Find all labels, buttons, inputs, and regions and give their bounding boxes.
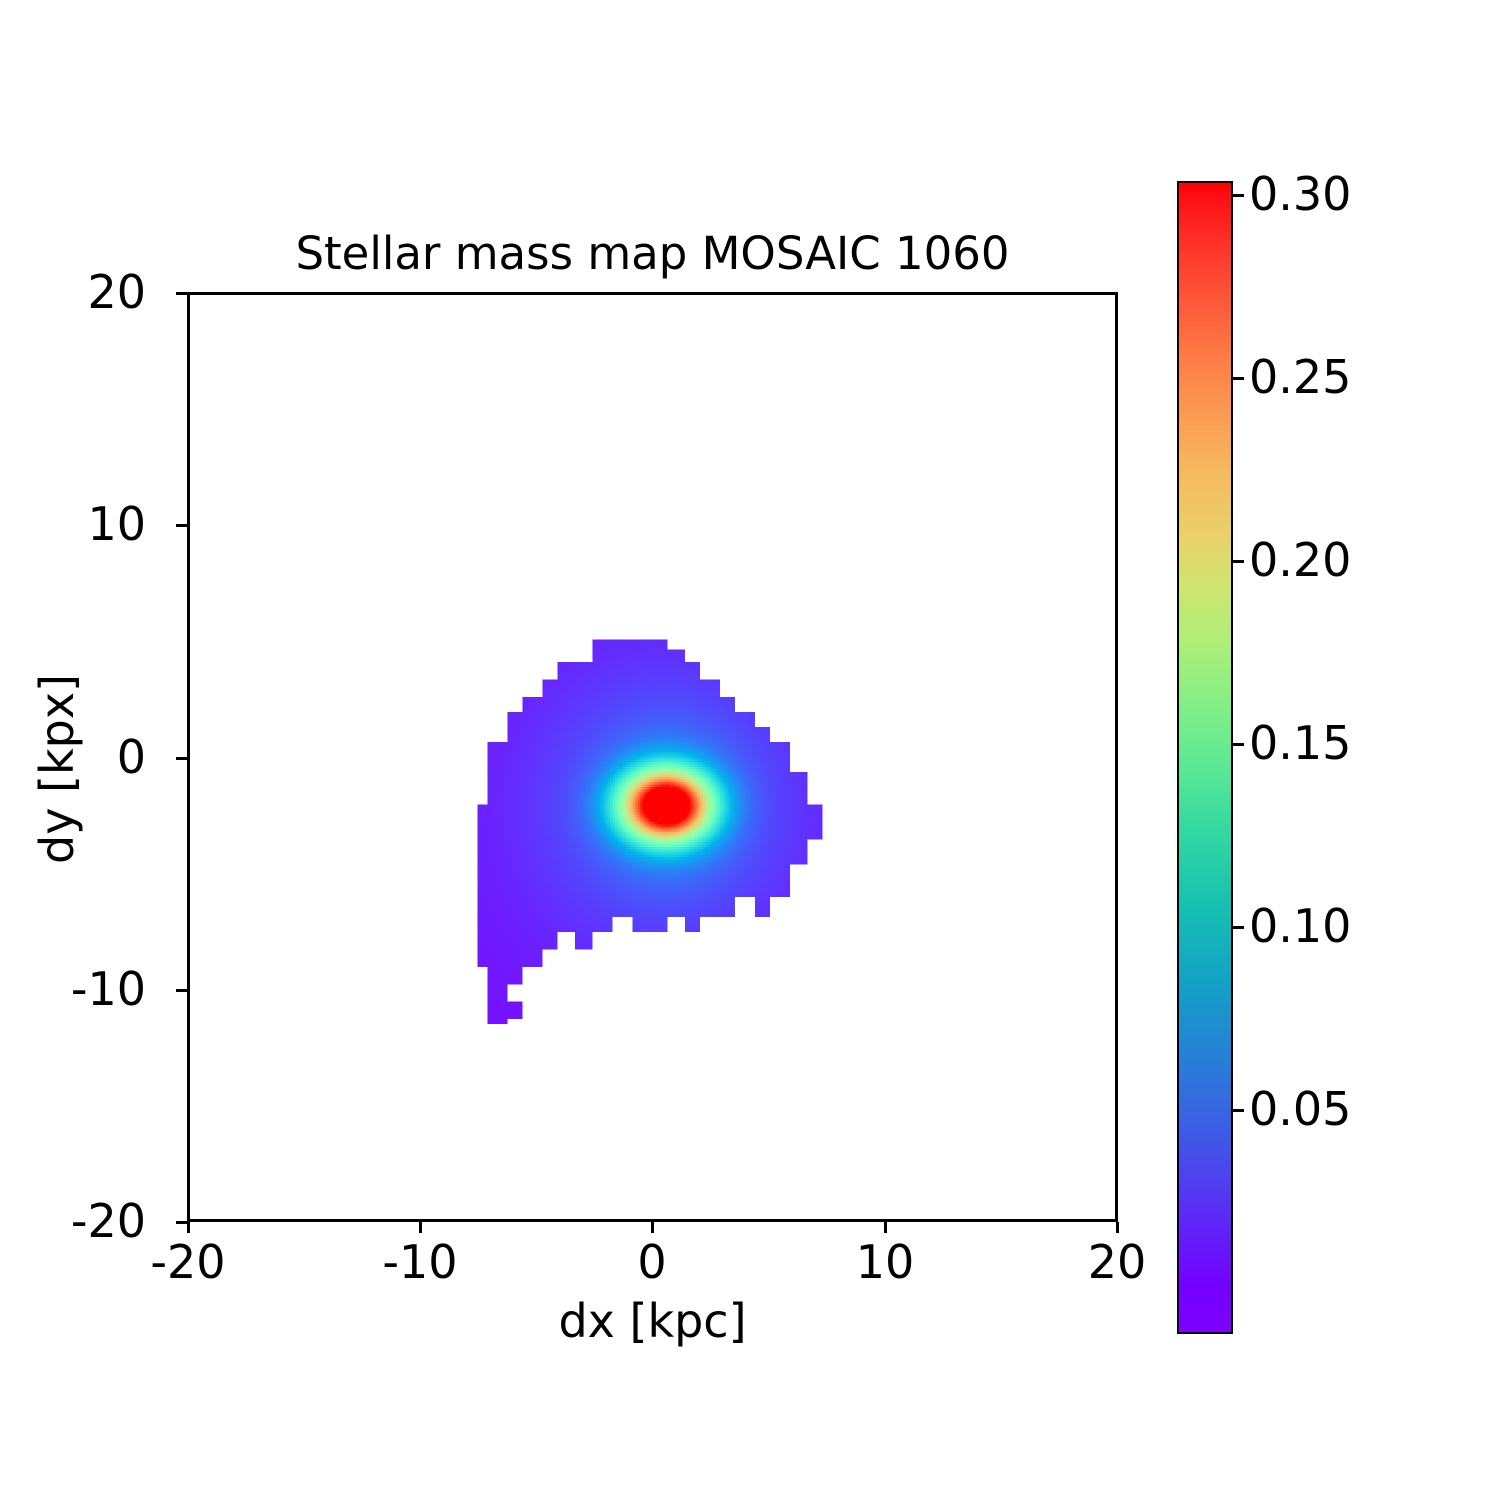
xtick-mark-0 <box>187 1222 190 1233</box>
colorbar-tick-label-3: 0.15 <box>1249 715 1351 771</box>
xtick-label-3: 10 <box>785 1234 985 1290</box>
ytick-mark-1: 10 <box>176 524 187 527</box>
heatmap-canvas <box>190 295 1115 1219</box>
y-axis-label: dy [kpx] <box>28 559 86 979</box>
ytick-mark-3: -10 <box>176 989 187 992</box>
colorbar-tick-label-4: 0.10 <box>1249 898 1351 954</box>
ytick-label-4: -20 <box>0 1193 146 1249</box>
colorbar-tick-mark-0 <box>1233 194 1244 197</box>
ytick-mark-4: -20 <box>176 1221 187 1224</box>
figure-canvas: Stellar mass map MOSAIC 1060 -20 -10 0 1… <box>0 0 1500 1500</box>
xtick-mark-4 <box>1116 1222 1119 1233</box>
colorbar-tick-mark-1 <box>1233 377 1244 380</box>
colorbar-tick-mark-5 <box>1233 1109 1244 1112</box>
colorbar-tick-mark-3 <box>1233 743 1244 746</box>
colorbar-tick-mark-2 <box>1233 560 1244 563</box>
page-title: Stellar mass map MOSAIC 1060 <box>187 226 1118 282</box>
colorbar-tick-label-1: 0.25 <box>1249 349 1351 405</box>
xtick-label-1: -10 <box>320 1234 520 1290</box>
ytick-label-1: 10 <box>0 496 146 552</box>
ytick-mark-0: 20 <box>176 292 187 295</box>
colorbar-tick-label-0: 0.30 <box>1249 166 1351 222</box>
main-axes[interactable] <box>187 292 1118 1222</box>
colorbar-tick-mark-4 <box>1233 926 1244 929</box>
xtick-label-2: 0 <box>552 1234 752 1290</box>
colorbar[interactable] <box>1177 181 1233 1334</box>
colorbar-tick-label-5: 0.05 <box>1249 1081 1351 1137</box>
x-axis-label: dx [kpc] <box>187 1292 1118 1350</box>
xtick-mark-1 <box>419 1222 422 1233</box>
xtick-mark-2 <box>651 1222 654 1233</box>
ytick-mark-2: 0 <box>176 757 187 760</box>
ytick-label-0: 20 <box>0 264 146 320</box>
colorbar-tick-label-2: 0.20 <box>1249 532 1351 588</box>
xtick-mark-3 <box>884 1222 887 1233</box>
stellar-mass-image <box>190 295 1115 1219</box>
